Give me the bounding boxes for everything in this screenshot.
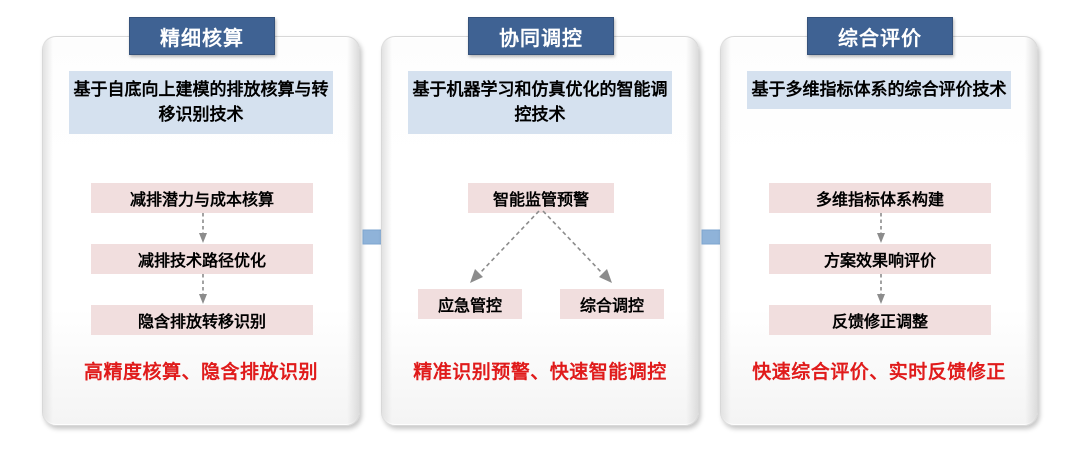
panel-2-branch-arrows bbox=[382, 207, 700, 297]
panel-1-flow-item-1: 减排潜力与成本核算 bbox=[91, 183, 313, 213]
panel-precise-accounting: 精细核算 基于自底向上建模的排放核算与转移识别技术 减排潜力与成本核算 减排技术… bbox=[42, 36, 360, 426]
panel-1-subtitle: 基于自底向上建模的排放核算与转移识别技术 bbox=[69, 71, 333, 134]
panel-1-dashed-arrow-1 bbox=[198, 213, 208, 244]
panel-3-tab-title: 综合评价 bbox=[807, 17, 953, 55]
panel-3-flow-item-2: 方案效果响评价 bbox=[769, 244, 991, 274]
panel-3-subtitle: 基于多维指标体系的综合评价技术 bbox=[747, 71, 1011, 109]
panel-3-dashed-arrow-2 bbox=[876, 274, 886, 305]
panel-comprehensive-evaluation: 综合评价 基于多维指标体系的综合评价技术 多维指标体系构建 方案效果响评价 反馈… bbox=[720, 36, 1038, 426]
panel-1-flow-item-2: 减排技术路径优化 bbox=[91, 244, 313, 274]
panel-3-flow-item-1: 多维指标体系构建 bbox=[769, 183, 991, 213]
panel-1-dashed-arrow-2 bbox=[198, 274, 208, 305]
panel-2-footer-highlight: 精准识别预警、快速智能调控 bbox=[382, 357, 698, 384]
panel-3-dashed-arrow-1 bbox=[876, 213, 886, 244]
panel-1-flow-item-3: 隐含排放转移识别 bbox=[91, 305, 313, 335]
panel-2-flow-branch-1: 应急管控 bbox=[418, 289, 522, 319]
panel-1-tab-title: 精细核算 bbox=[129, 17, 275, 55]
panel-collaborative-regulation: 协同调控 基于机器学习和仿真优化的智能调控技术 智能监管预警 应急管控 综合调控… bbox=[381, 36, 699, 426]
panel-3-footer-highlight: 快速综合评价、实时反馈修正 bbox=[721, 357, 1037, 384]
diagram-canvas: 精细核算 基于自底向上建模的排放核算与转移识别技术 减排潜力与成本核算 减排技术… bbox=[0, 0, 1080, 472]
panel-2-tab-title: 协同调控 bbox=[468, 17, 614, 55]
panel-2-subtitle: 基于机器学习和仿真优化的智能调控技术 bbox=[408, 71, 672, 134]
panel-1-footer-highlight: 高精度核算、隐含排放识别 bbox=[43, 357, 359, 384]
panel-3-flow-item-3: 反馈修正调整 bbox=[769, 305, 991, 335]
panel-2-flow-branch-2: 综合调控 bbox=[560, 289, 664, 319]
